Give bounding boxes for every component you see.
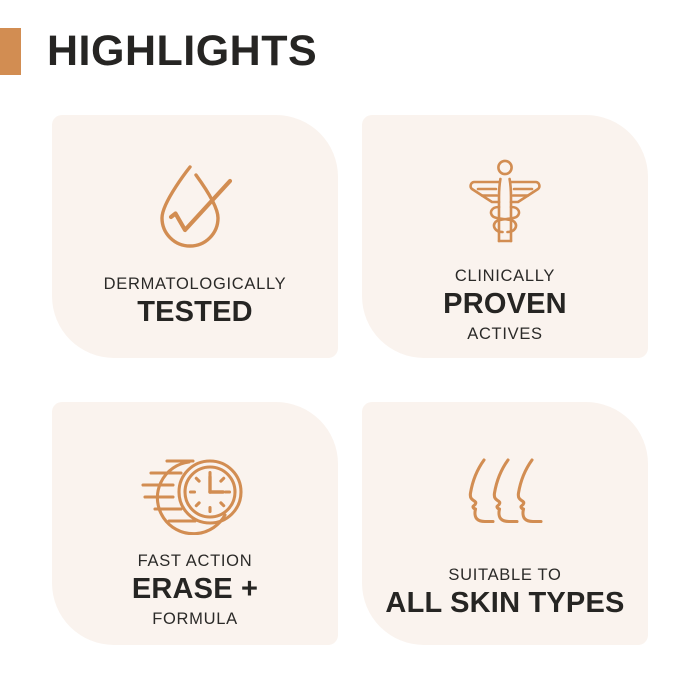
card-main-label: ALL SKIN TYPES (385, 586, 624, 621)
header-accent-bar (0, 28, 21, 75)
highlight-card-all-skin-types[interactable]: SUITABLE TO ALL SKIN TYPES (362, 402, 648, 645)
caduceus-icon (462, 155, 548, 251)
page-header: HIGHLIGHTS (0, 22, 317, 80)
card-top-label: FAST ACTION (138, 550, 253, 572)
card-top-label: CLINICALLY (455, 265, 555, 287)
card-bottom-label: ACTIVES (467, 323, 543, 345)
card-text-block: SUITABLE TO ALL SKIN TYPES (362, 564, 648, 622)
card-text-block: DERMATOLOGICALLY TESTED (52, 273, 338, 331)
fast-clock-icon (133, 444, 258, 540)
card-text-block: FAST ACTION ERASE + FORMULA (52, 550, 338, 630)
highlights-grid: DERMATOLOGICALLY TESTED (52, 115, 648, 645)
highlight-card-dermatologically-tested[interactable]: DERMATOLOGICALLY TESTED (52, 115, 338, 358)
card-bottom-label: FORMULA (152, 608, 238, 630)
highlight-card-fast-action-erase[interactable]: FAST ACTION ERASE + FORMULA (52, 402, 338, 645)
card-top-label: DERMATOLOGICALLY (104, 273, 287, 295)
highlight-card-clinically-proven[interactable]: CLINICALLY PROVEN ACTIVES (362, 115, 648, 358)
card-top-label: SUITABLE TO (448, 564, 561, 586)
droplet-check-icon (152, 159, 238, 255)
card-main-label: TESTED (137, 295, 253, 330)
three-faces-icon (464, 448, 546, 544)
card-main-label: ERASE + (132, 572, 258, 607)
card-main-label: PROVEN (443, 287, 567, 322)
page-title: HIGHLIGHTS (47, 30, 317, 73)
card-text-block: CLINICALLY PROVEN ACTIVES (362, 265, 648, 345)
